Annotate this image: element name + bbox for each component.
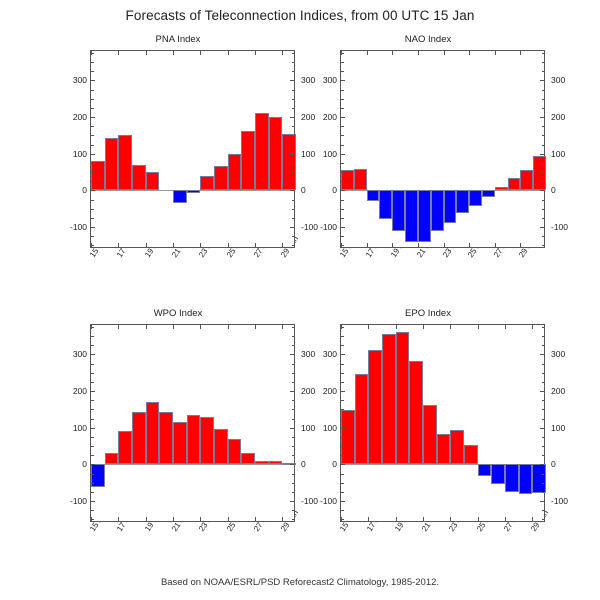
- panel-title-wpo: WPO Index: [58, 308, 298, 319]
- bar: [269, 117, 283, 191]
- x-tick: [118, 243, 119, 247]
- y-tick: [91, 190, 95, 191]
- y-tick: [341, 345, 344, 346]
- panel-title-pna: PNA Index: [58, 34, 298, 45]
- panel-pna: PNA Index15 Jan17 Jan19 Jan21 Jan23 Jan2…: [58, 34, 298, 266]
- bar: [456, 190, 469, 213]
- y-tick: [540, 354, 544, 355]
- x-tick: [478, 517, 479, 521]
- x-tick: [478, 325, 479, 329]
- bar: [241, 453, 255, 464]
- plot-area-nao: -100-10000100100200200300300: [340, 50, 545, 248]
- y-tick: [542, 492, 545, 493]
- y-tick: [91, 354, 95, 355]
- y-axis-label: -100: [307, 496, 337, 506]
- y-axis-label: -100: [57, 496, 87, 506]
- x-tick: [396, 325, 397, 329]
- bar: [118, 431, 132, 465]
- teleconnection-forecast-figure: Forecasts of Teleconnection Indices, fro…: [0, 0, 600, 600]
- y-tick: [341, 428, 345, 429]
- y-tick: [292, 336, 295, 337]
- bar: [382, 334, 396, 464]
- y-tick: [542, 336, 545, 337]
- y-tick: [341, 501, 345, 502]
- y-tick: [341, 364, 344, 365]
- x-tick: [200, 517, 201, 521]
- figure-title: Forecasts of Teleconnection Indices, fro…: [0, 8, 600, 23]
- x-tick: [532, 517, 533, 521]
- bar: [418, 190, 431, 242]
- y-tick: [542, 419, 545, 420]
- y-tick: [292, 172, 295, 173]
- y-tick: [91, 71, 94, 72]
- bar: [91, 161, 105, 190]
- y-tick: [290, 190, 294, 191]
- y-tick: [91, 236, 94, 237]
- bar: [173, 190, 187, 203]
- y-tick: [292, 455, 295, 456]
- y-tick: [542, 373, 545, 374]
- y-tick: [542, 446, 545, 447]
- y-tick: [292, 236, 295, 237]
- y-tick: [91, 400, 94, 401]
- y-tick: [341, 135, 344, 136]
- x-tick: [255, 325, 256, 329]
- y-tick: [542, 209, 545, 210]
- bar: [495, 187, 508, 191]
- bar: [431, 190, 444, 231]
- x-tick: [520, 51, 521, 55]
- y-tick: [292, 53, 295, 54]
- bar: [269, 461, 283, 465]
- y-tick: [542, 53, 545, 54]
- y-tick: [341, 163, 344, 164]
- x-tick: [118, 325, 119, 329]
- y-axis-label: -100: [57, 222, 87, 232]
- y-tick: [91, 163, 94, 164]
- x-tick: [368, 517, 369, 521]
- y-axis-label: 0: [57, 459, 87, 469]
- y-tick: [542, 236, 545, 237]
- y-tick: [91, 345, 94, 346]
- bar: [118, 135, 132, 190]
- y-axis-label-right: 300: [551, 75, 581, 85]
- y-tick: [542, 510, 545, 511]
- bar: [396, 332, 410, 465]
- y-tick: [542, 71, 545, 72]
- bar: [241, 131, 255, 190]
- y-tick: [91, 501, 95, 502]
- x-tick: [146, 325, 147, 329]
- y-tick: [341, 455, 344, 456]
- y-tick: [542, 62, 545, 63]
- y-tick: [542, 455, 545, 456]
- y-tick: [540, 227, 544, 228]
- y-tick: [540, 117, 544, 118]
- x-tick: [173, 517, 174, 521]
- y-tick: [290, 464, 294, 465]
- x-tick: [200, 243, 201, 247]
- y-axis-label: 200: [57, 386, 87, 396]
- x-tick: [469, 243, 470, 247]
- x-tick: [341, 325, 342, 329]
- y-tick: [91, 80, 95, 81]
- panel-epo: EPO Index15 Jan17 Jan19 Jan21 Jan23 Jan2…: [308, 308, 548, 540]
- x-tick: [469, 51, 470, 55]
- y-tick: [542, 409, 545, 410]
- bar: [132, 412, 146, 465]
- bar: [200, 417, 214, 464]
- y-tick: [91, 336, 94, 337]
- y-tick: [542, 400, 545, 401]
- y-tick: [540, 154, 544, 155]
- y-axis-label: 100: [307, 423, 337, 433]
- y-tick: [341, 236, 344, 237]
- bar: [187, 415, 201, 464]
- y-axis-label: 0: [307, 185, 337, 195]
- y-tick: [292, 510, 295, 511]
- y-tick: [542, 382, 545, 383]
- y-tick: [91, 446, 94, 447]
- y-tick: [292, 90, 295, 91]
- y-tick: [540, 80, 544, 81]
- y-tick: [91, 464, 95, 465]
- y-tick: [91, 409, 94, 410]
- y-tick: [292, 145, 295, 146]
- x-tick: [200, 325, 201, 329]
- y-axis-label: 200: [57, 112, 87, 122]
- y-tick: [91, 135, 94, 136]
- y-tick: [292, 382, 295, 383]
- y-tick: [91, 172, 94, 173]
- y-tick: [542, 345, 545, 346]
- y-tick: [91, 474, 94, 475]
- y-tick: [292, 364, 295, 365]
- y-tick: [91, 391, 95, 392]
- y-tick: [341, 437, 344, 438]
- y-axis-label: 200: [307, 112, 337, 122]
- y-tick: [91, 99, 94, 100]
- y-tick: [341, 117, 345, 118]
- x-tick: [228, 517, 229, 521]
- y-tick: [341, 80, 345, 81]
- bar: [173, 422, 187, 464]
- x-tick: [392, 51, 393, 55]
- y-tick: [292, 200, 295, 201]
- y-tick: [542, 172, 545, 173]
- y-tick: [542, 437, 545, 438]
- y-tick: [341, 99, 344, 100]
- x-tick: [228, 51, 229, 55]
- x-tick: [341, 51, 342, 55]
- bar: [159, 412, 173, 464]
- bar: [132, 165, 146, 191]
- y-tick: [91, 373, 94, 374]
- x-tick: [520, 243, 521, 247]
- x-tick: [118, 517, 119, 521]
- x-tick: [173, 243, 174, 247]
- bar: [228, 154, 242, 190]
- y-axis-label-right: 0: [551, 185, 581, 195]
- x-tick: [444, 51, 445, 55]
- y-tick: [91, 218, 94, 219]
- bar: [146, 402, 160, 465]
- y-tick: [292, 62, 295, 63]
- x-tick: [450, 517, 451, 521]
- y-tick: [542, 474, 545, 475]
- bar: [505, 464, 519, 492]
- y-tick: [341, 446, 344, 447]
- x-tick: [146, 517, 147, 521]
- y-tick: [341, 154, 345, 155]
- x-tick: [341, 517, 342, 521]
- x-tick: [423, 517, 424, 521]
- y-tick: [540, 391, 544, 392]
- y-tick: [292, 181, 295, 182]
- bar: [228, 439, 242, 464]
- y-tick: [341, 209, 344, 210]
- y-tick: [290, 227, 294, 228]
- bar: [146, 172, 160, 190]
- y-tick: [341, 464, 345, 465]
- y-tick: [292, 400, 295, 401]
- y-tick: [341, 190, 345, 191]
- bar: [520, 170, 533, 191]
- bar: [200, 176, 214, 190]
- bar: [491, 464, 505, 484]
- bar: [482, 190, 495, 197]
- x-tick: [200, 51, 201, 55]
- y-axis-label: 300: [57, 349, 87, 359]
- y-tick: [542, 245, 545, 246]
- y-tick: [91, 428, 95, 429]
- panel-title-epo: EPO Index: [308, 308, 548, 319]
- plot-area-epo: -100-10000100100200200300300: [340, 324, 545, 522]
- y-tick: [290, 154, 294, 155]
- bar: [214, 166, 228, 190]
- y-tick: [341, 510, 344, 511]
- plot-area-wpo: -100-10000100100200200300300: [90, 324, 295, 522]
- y-tick: [292, 71, 295, 72]
- y-tick: [91, 419, 94, 420]
- y-tick: [292, 245, 295, 246]
- bar: [105, 138, 119, 190]
- bar: [423, 405, 437, 464]
- y-axis-label: 100: [57, 423, 87, 433]
- x-tick: [282, 517, 283, 521]
- x-tick: [418, 243, 419, 247]
- y-axis-label-right: 200: [551, 386, 581, 396]
- y-tick: [290, 80, 294, 81]
- y-tick: [91, 483, 94, 484]
- x-tick: [146, 51, 147, 55]
- y-tick: [341, 62, 344, 63]
- x-tick: [368, 325, 369, 329]
- y-tick: [91, 145, 94, 146]
- y-tick: [292, 135, 295, 136]
- panel-wpo: WPO Index15 Jan17 Jan19 Jan21 Jan23 Jan2…: [58, 308, 298, 540]
- y-axis-label: 100: [307, 149, 337, 159]
- bar: [444, 190, 457, 222]
- x-tick: [118, 51, 119, 55]
- y-tick: [341, 409, 344, 410]
- y-tick: [341, 227, 345, 228]
- y-axis-label-right: -100: [551, 222, 581, 232]
- x-tick: [91, 325, 92, 329]
- y-tick: [292, 345, 295, 346]
- y-tick: [91, 154, 95, 155]
- y-axis-label-right: 100: [551, 149, 581, 159]
- y-tick: [542, 99, 545, 100]
- y-tick: [292, 437, 295, 438]
- y-tick: [290, 354, 294, 355]
- figure-footer: Based on NOAA/ESRL/PSD Reforecast2 Clima…: [0, 577, 600, 588]
- x-tick: [173, 51, 174, 55]
- x-tick: [255, 243, 256, 247]
- y-tick: [290, 391, 294, 392]
- x-tick: [146, 243, 147, 247]
- y-tick: [290, 117, 294, 118]
- y-tick: [341, 172, 344, 173]
- y-tick: [292, 492, 295, 493]
- y-tick: [292, 446, 295, 447]
- x-tick: [392, 243, 393, 247]
- x-tick: [367, 243, 368, 247]
- y-tick: [341, 90, 344, 91]
- y-axis-label: 200: [307, 386, 337, 396]
- y-axis-label-right: 200: [551, 112, 581, 122]
- y-tick: [341, 419, 344, 420]
- y-axis-label: 300: [57, 75, 87, 85]
- y-tick: [542, 181, 545, 182]
- bar: [533, 156, 546, 191]
- y-tick: [542, 108, 545, 109]
- bar: [478, 464, 492, 476]
- bar: [405, 190, 418, 241]
- bar: [464, 445, 478, 465]
- x-tick: [282, 243, 283, 247]
- y-tick: [292, 99, 295, 100]
- y-tick: [542, 145, 545, 146]
- zero-line: [91, 464, 294, 465]
- bar: [354, 169, 367, 190]
- bar: [409, 361, 423, 465]
- panel-title-nao: NAO Index: [308, 34, 548, 45]
- y-tick: [292, 108, 295, 109]
- bar: [255, 113, 269, 191]
- x-tick: [423, 325, 424, 329]
- x-tick: [255, 517, 256, 521]
- y-tick: [341, 373, 344, 374]
- y-axis-label-right: -100: [551, 496, 581, 506]
- x-tick: [396, 517, 397, 521]
- y-tick: [542, 483, 545, 484]
- y-tick: [292, 373, 295, 374]
- y-tick: [292, 163, 295, 164]
- y-axis-label: 0: [57, 185, 87, 195]
- x-tick: [532, 325, 533, 329]
- y-tick: [91, 364, 94, 365]
- x-tick: [228, 243, 229, 247]
- y-axis-label: 100: [57, 149, 87, 159]
- y-tick: [341, 492, 344, 493]
- x-tick: [444, 243, 445, 247]
- bar: [187, 190, 201, 193]
- y-tick: [292, 409, 295, 410]
- x-tick: [173, 325, 174, 329]
- y-tick: [341, 483, 344, 484]
- y-axis-label: -100: [307, 222, 337, 232]
- y-tick: [292, 474, 295, 475]
- bar: [508, 178, 521, 190]
- plot-area-pna: -100-10000100100200200300300: [90, 50, 295, 248]
- y-tick: [91, 90, 94, 91]
- x-tick: [91, 51, 92, 55]
- bar: [255, 461, 269, 464]
- y-tick: [91, 492, 94, 493]
- y-axis-label-right: 100: [551, 423, 581, 433]
- x-tick: [282, 51, 283, 55]
- y-tick: [542, 218, 545, 219]
- y-tick: [91, 117, 95, 118]
- bar: [355, 374, 369, 465]
- y-tick: [341, 218, 344, 219]
- y-tick: [292, 327, 295, 328]
- y-tick: [91, 227, 95, 228]
- y-tick: [91, 126, 94, 127]
- y-tick: [91, 437, 94, 438]
- y-tick: [290, 428, 294, 429]
- x-tick: [505, 517, 506, 521]
- y-tick: [341, 354, 345, 355]
- x-tick: [367, 51, 368, 55]
- y-tick: [540, 464, 544, 465]
- x-tick: [450, 325, 451, 329]
- y-tick: [542, 364, 545, 365]
- y-axis-label: 300: [307, 75, 337, 85]
- bar: [367, 190, 380, 201]
- y-tick: [542, 135, 545, 136]
- y-axis-label: 300: [307, 349, 337, 359]
- y-tick: [341, 126, 344, 127]
- y-tick: [341, 382, 344, 383]
- x-tick: [341, 243, 342, 247]
- y-tick: [542, 200, 545, 201]
- y-tick: [292, 218, 295, 219]
- y-tick: [341, 71, 344, 72]
- y-axis-label-right: 300: [551, 349, 581, 359]
- bar: [437, 434, 451, 464]
- y-tick: [292, 126, 295, 127]
- y-tick: [91, 200, 94, 201]
- y-tick: [292, 483, 295, 484]
- y-tick: [341, 145, 344, 146]
- y-tick: [290, 501, 294, 502]
- y-tick: [341, 181, 344, 182]
- y-tick: [341, 391, 345, 392]
- y-tick: [341, 336, 344, 337]
- bar: [469, 190, 482, 206]
- bar: [392, 190, 405, 230]
- bar: [214, 429, 228, 465]
- bar: [519, 464, 533, 493]
- y-tick: [292, 519, 295, 520]
- y-tick: [91, 510, 94, 511]
- y-tick: [292, 419, 295, 420]
- x-tick: [505, 325, 506, 329]
- x-tick: [418, 51, 419, 55]
- y-tick: [91, 181, 94, 182]
